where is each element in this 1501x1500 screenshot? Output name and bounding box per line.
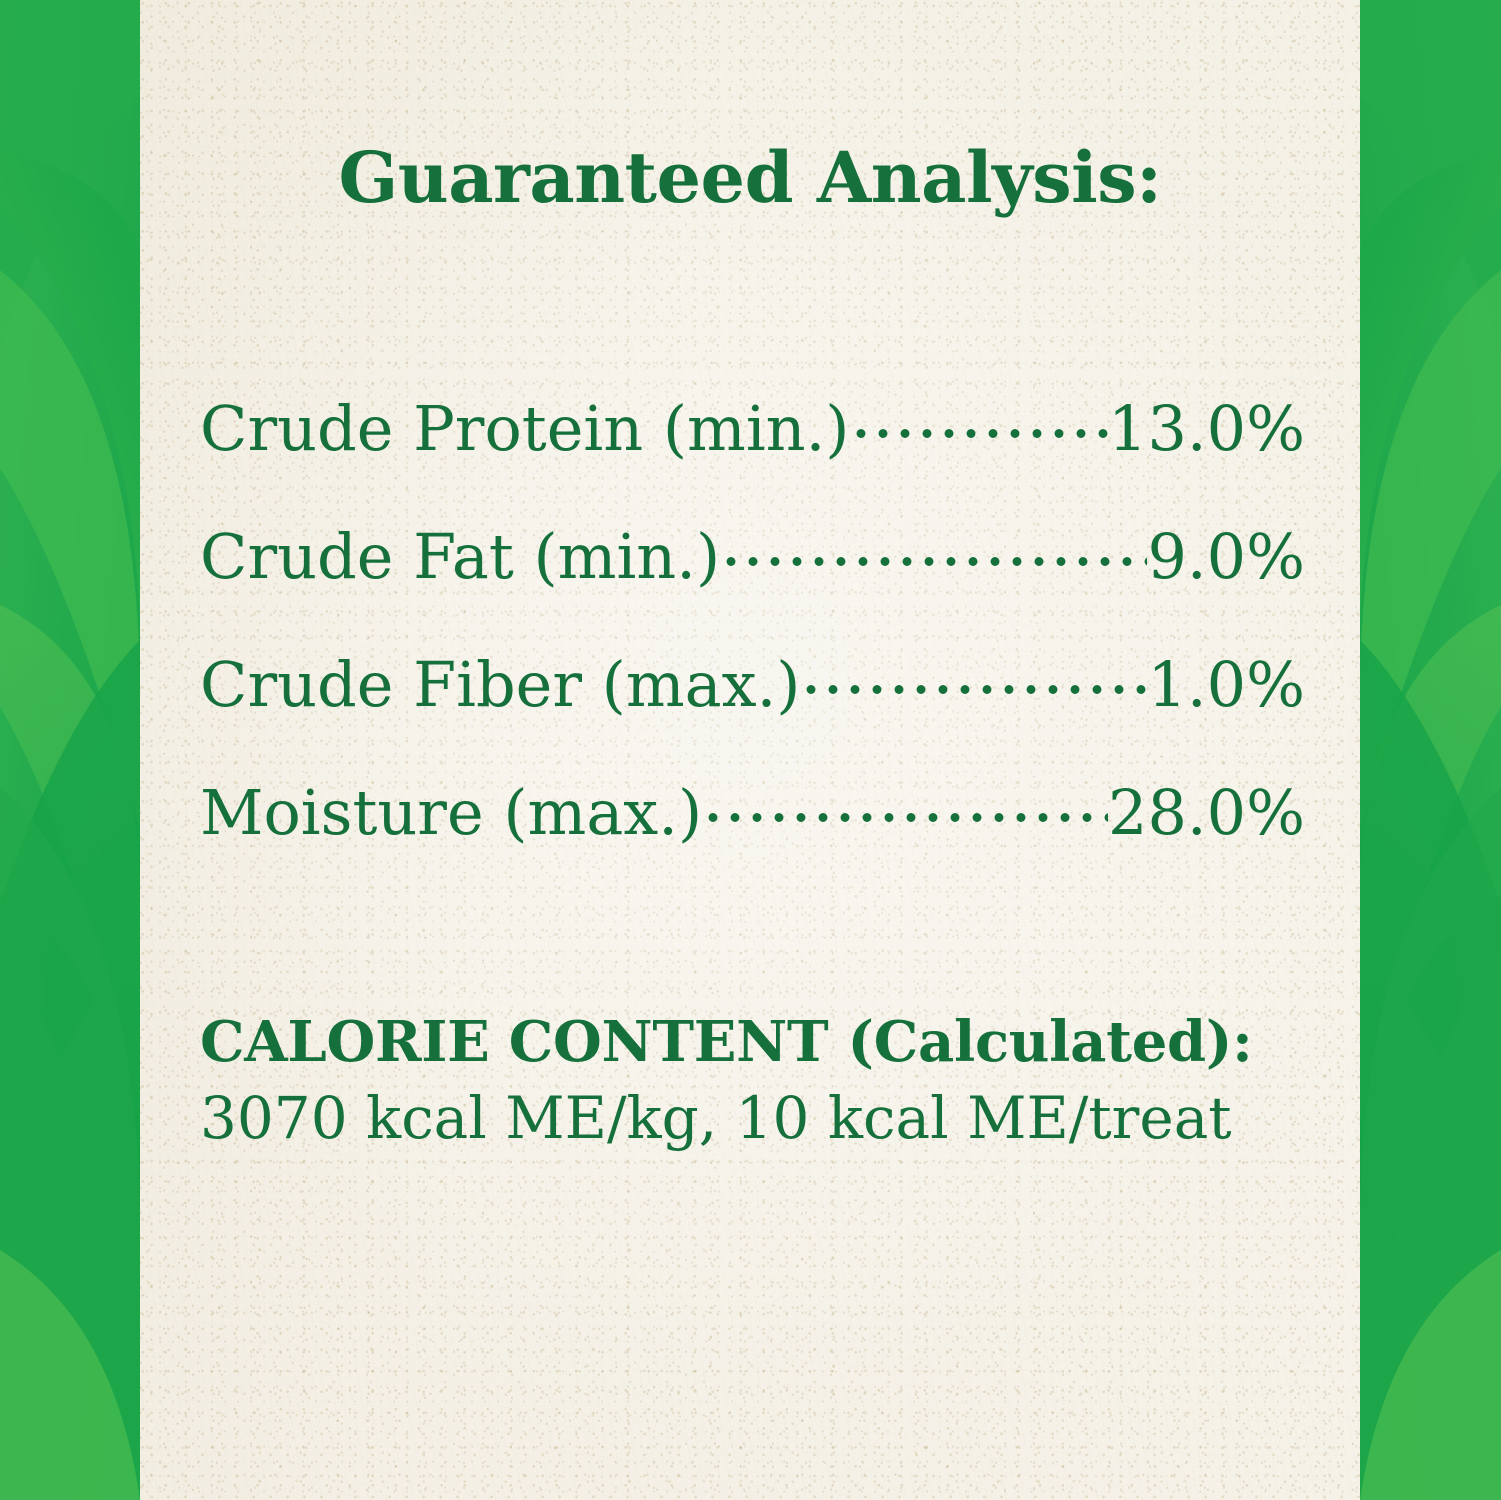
dot-leader xyxy=(850,388,1109,450)
nutrient-value: 9.0% xyxy=(1147,520,1305,593)
nutrient-label: Crude Fiber (max.) xyxy=(200,648,800,721)
nutrient-label: Moisture (max.) xyxy=(200,776,702,849)
nutrient-label: Crude Protein (min.) xyxy=(200,392,850,465)
nutrient-value: 1.0% xyxy=(1147,648,1305,721)
nutrient-value: 28.0% xyxy=(1108,776,1305,849)
calorie-content-detail: 3070 kcal ME/kg, 10 kcal ME/treat xyxy=(200,1082,1305,1155)
list-item: Crude Fiber (max.) 1.0% xyxy=(200,644,1305,772)
page-title: Guaranteed Analysis: xyxy=(140,143,1360,213)
dot-leader xyxy=(720,516,1147,578)
list-item: Crude Protein (min.) 13.0% xyxy=(200,388,1305,516)
leaf-pattern-left xyxy=(0,0,140,1500)
nutrient-value: 13.0% xyxy=(1108,392,1305,465)
panel-content: Guaranteed Analysis: Crude Protein (min.… xyxy=(140,0,1360,1500)
guaranteed-analysis-panel: Guaranteed Analysis: Crude Protein (min.… xyxy=(0,0,1501,1500)
guaranteed-analysis-list: Crude Protein (min.) 13.0% Crude Fat (mi… xyxy=(200,388,1305,900)
leaf-pattern-right xyxy=(1360,0,1501,1500)
list-item: Moisture (max.) 28.0% xyxy=(200,772,1305,900)
dot-leader xyxy=(702,772,1108,834)
list-item: Crude Fat (min.) 9.0% xyxy=(200,516,1305,644)
dot-leader xyxy=(800,644,1147,706)
calorie-content-heading: CALORIE CONTENT (Calculated): xyxy=(200,1012,1305,1072)
nutrient-label: Crude Fat (min.) xyxy=(200,520,720,593)
calorie-content-block: CALORIE CONTENT (Calculated): 3070 kcal … xyxy=(200,1012,1305,1155)
